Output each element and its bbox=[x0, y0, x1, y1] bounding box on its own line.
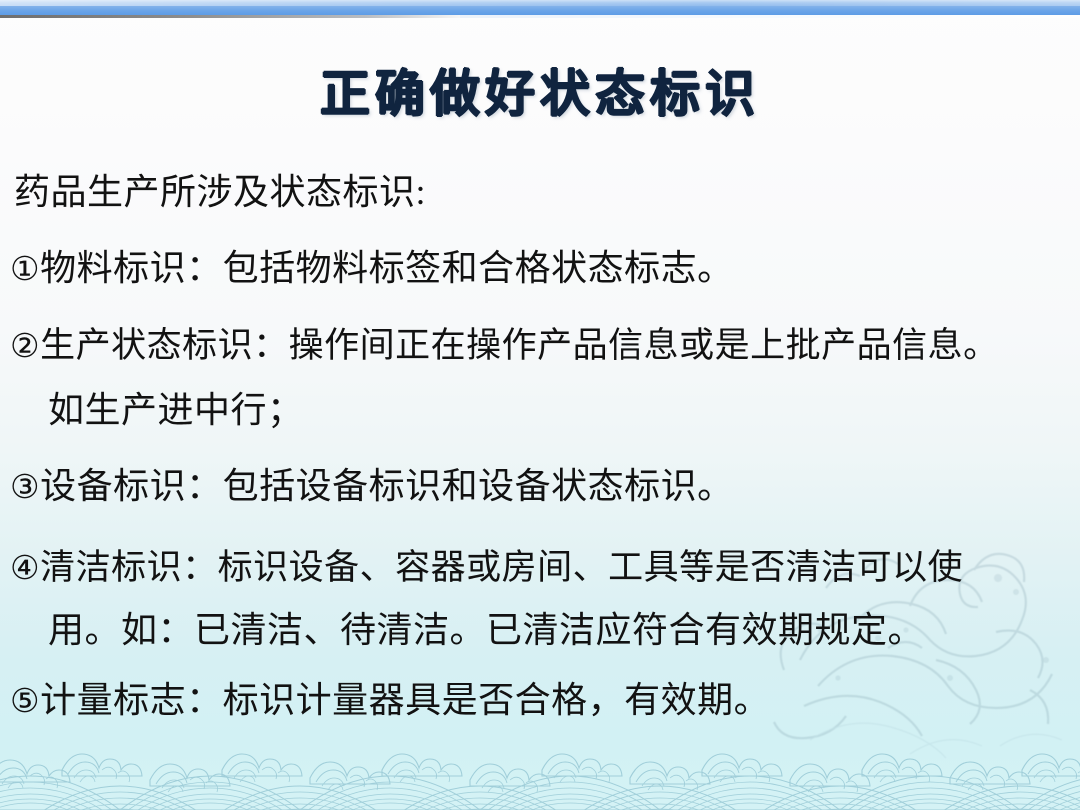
list-item-5: ⑤计量标志：标识计量器具是否合格，有效期。 bbox=[10, 680, 770, 721]
list-text-2: 生产状态标识：操作间正在操作产品信息或是上批产品信息。 bbox=[40, 326, 999, 365]
list-item-2: ②生产状态标识：操作间正在操作产品信息或是上批产品信息。 bbox=[10, 326, 999, 366]
list-item-3: ③设备标识：包括设备标识和设备状态标识。 bbox=[10, 466, 734, 507]
slide-canvas: 正确做好状态标识 药品生产所涉及状态标识: ①物料标识：包括物料标签和合格状态标… bbox=[0, 0, 1080, 810]
list-marker-4: ④ bbox=[10, 548, 40, 587]
top-accent-bar bbox=[0, 0, 1080, 15]
list-text-3: 设备标识：包括设备标识和设备状态标识。 bbox=[40, 466, 734, 506]
list-marker-2: ② bbox=[10, 326, 40, 365]
chinese-wave-pattern-icon bbox=[0, 738, 1080, 810]
list-marker-1: ① bbox=[10, 249, 40, 288]
list-item-2-continuation: 如生产进中行； bbox=[48, 390, 304, 430]
list-item-4-continuation: 用。如：已清洁、待清洁。已清洁应符合有效期规定。 bbox=[48, 610, 924, 650]
intro-line: 药品生产所涉及状态标识: bbox=[14, 172, 426, 212]
list-item-1: ①物料标识：包括物料标签和合格状态标志。 bbox=[10, 248, 734, 289]
page-title: 正确做好状态标识 bbox=[0, 54, 1080, 126]
list-text-4: 清洁标识：标识设备、容器或房间、工具等是否清洁可以使 bbox=[40, 548, 963, 587]
top-accent-bar-underline-left bbox=[0, 15, 470, 18]
list-item-4: ④清洁标识：标识设备、容器或房间、工具等是否清洁可以使 bbox=[10, 548, 963, 588]
list-marker-3: ③ bbox=[10, 467, 40, 506]
list-text-5: 计量标志：标识计量器具是否合格，有效期。 bbox=[40, 680, 770, 720]
list-marker-5: ⑤ bbox=[10, 681, 40, 720]
top-accent-bar-underline-right bbox=[460, 15, 1080, 18]
list-text-1: 物料标识：包括物料标签和合格状态标志。 bbox=[40, 248, 734, 288]
top-accent-bar-sheen bbox=[0, 0, 1080, 6]
